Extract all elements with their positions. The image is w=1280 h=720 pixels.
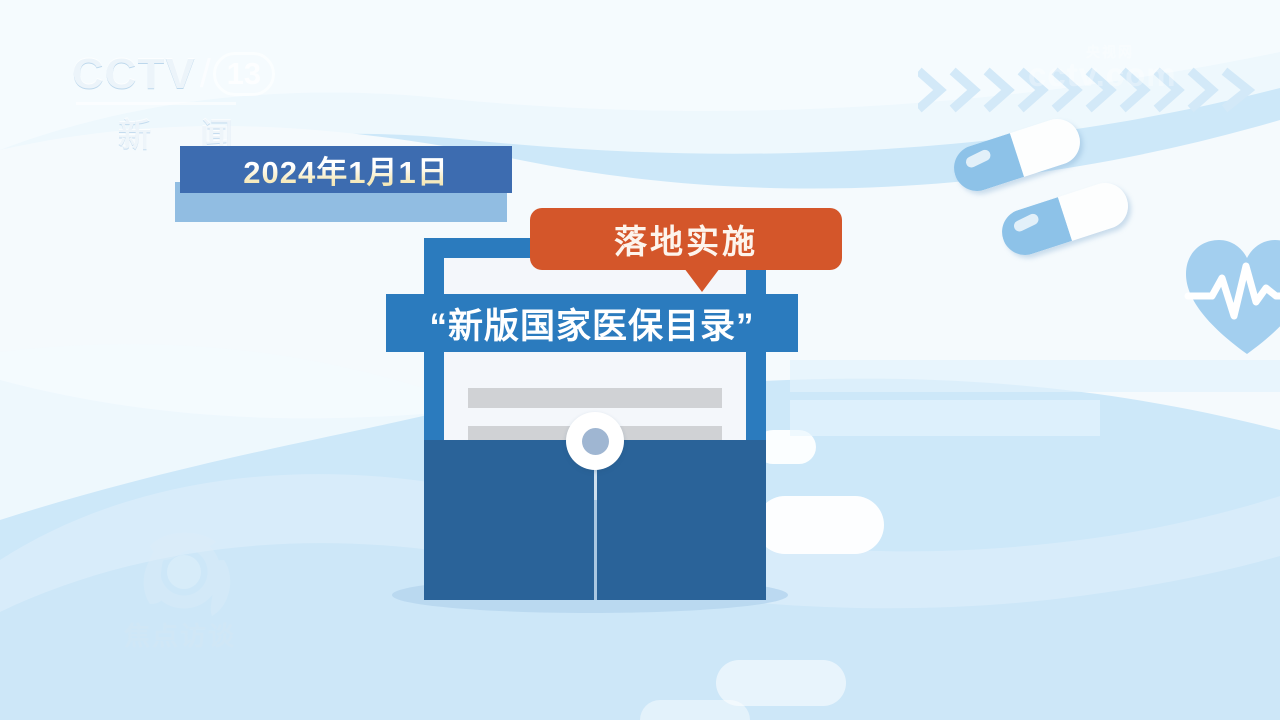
status-badge-label: 落地实施	[614, 215, 758, 263]
headline-title-label: “新版国家医保目录”	[429, 298, 754, 349]
chevron-arrows-icon	[918, 62, 1270, 118]
date-banner-plate: 2024年1月1日	[180, 146, 512, 193]
briefcase-clasp-icon	[566, 412, 624, 470]
broadcast-graphic-frame: CCTV / 13 新 闻 央视网 cctv.com	[0, 0, 1280, 720]
heart-ecg-icon	[1182, 236, 1280, 358]
document-text-line	[468, 388, 722, 408]
headline-title-bar: “新版国家医保目录”	[386, 294, 798, 352]
status-badge: 落地实施	[530, 208, 842, 270]
status-badge-pointer	[684, 268, 720, 292]
briefcase-clasp-center	[582, 428, 609, 455]
briefcase-illustration	[396, 232, 800, 612]
date-banner-label: 2024年1月1日	[243, 147, 448, 192]
date-banner: 2024年1月1日	[180, 146, 512, 193]
